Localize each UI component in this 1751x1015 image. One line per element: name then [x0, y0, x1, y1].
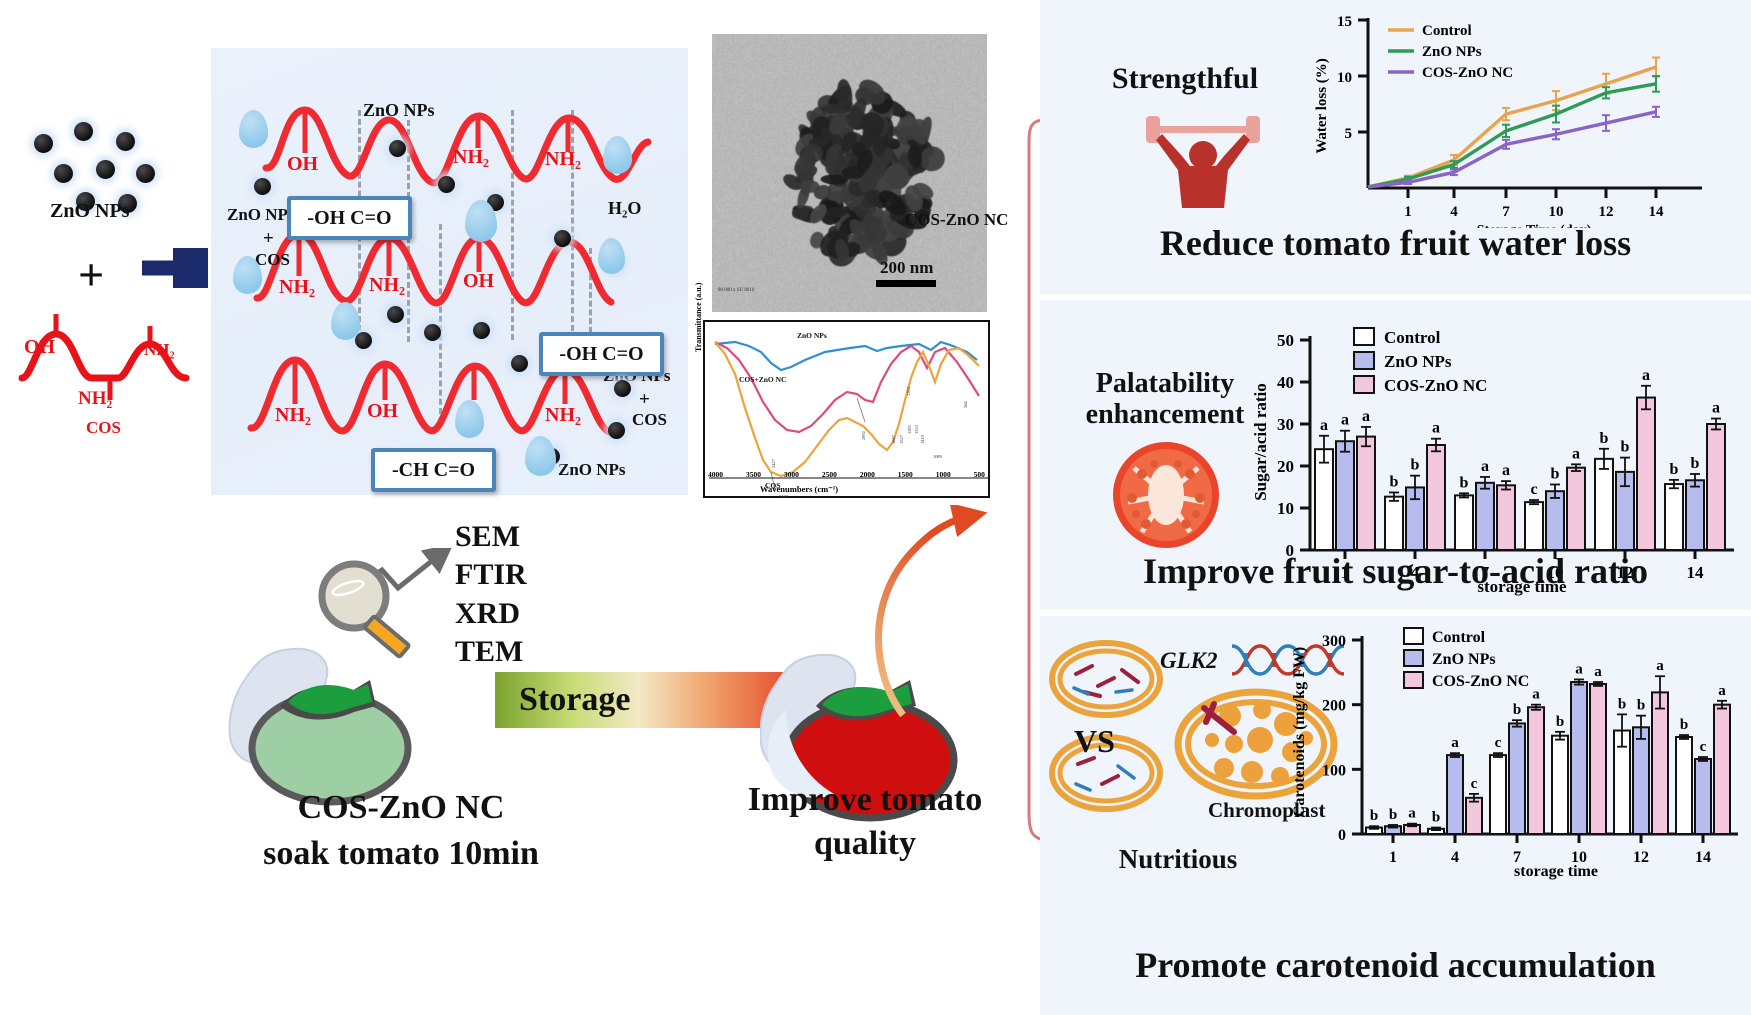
- ftir-peak-3427: 3427: [771, 458, 776, 468]
- wl-line-Control: [1368, 67, 1656, 187]
- ftir-ylabel: Transmittance (a.u.): [694, 283, 703, 352]
- tem-corner-metadata: 80 000 x SU 8010: [718, 288, 754, 294]
- tem-scale-bar: [876, 280, 936, 287]
- ftir-xtick: 1500: [898, 470, 913, 479]
- carotenoid-chart-sig-letter: a: [1594, 664, 1602, 680]
- sugar-acid-chart-ytick: 50: [1277, 331, 1294, 350]
- process-caption-left: COS-ZnO NC soak tomato 10min: [186, 785, 616, 876]
- panel1-caption: Reduce tomato fruit water loss: [1040, 222, 1751, 264]
- carotenoid-chart-bar: [1633, 727, 1649, 834]
- sugar-acid-chart-bar: [1686, 480, 1704, 550]
- wl-legend-control: Control: [1422, 23, 1472, 39]
- curved-arrow-icon: [845, 505, 1005, 725]
- wl-xtick-1: 1: [1404, 204, 1412, 220]
- carotenoid-chart-sig-letter: b: [1618, 696, 1626, 712]
- carotenoid-chart-sig-letter: c: [1471, 776, 1478, 792]
- ftir-peak-1553: 1553: [914, 424, 919, 434]
- sa-legend: Control ZnO NPs COS-ZnO NC: [1354, 328, 1487, 395]
- schematic-zno-cos-left-3: COS: [255, 250, 290, 270]
- carotenoid-chart-bar: [1590, 684, 1606, 834]
- carotenoid-chart-bar: [1509, 723, 1525, 834]
- label-nh2-1: NH₂: [453, 146, 489, 169]
- sugar-acid-chart-bar: [1525, 502, 1543, 550]
- schematic-zno-nps-bottom: ZnO NPs: [558, 460, 626, 480]
- carotenoid-chart-bar: [1571, 682, 1587, 834]
- sugar-acid-chart-sig-letter: b: [1460, 474, 1469, 491]
- wl-xtick-7: 7: [1502, 204, 1510, 220]
- wl-ytick-10: 10: [1337, 70, 1352, 86]
- wl-legend-zno: ZnO NPs: [1422, 44, 1482, 60]
- ftir-peak-564: 564: [963, 401, 968, 408]
- sugar-acid-chart-sig-letter: a: [1712, 400, 1720, 417]
- schematic-zno-nps-top: ZnO NPs: [363, 100, 435, 121]
- ca-legend-cos: COS-ZnO NC: [1432, 673, 1529, 690]
- wl-xtick-14: 14: [1649, 204, 1665, 220]
- wl-legend-cos: COS-ZnO NC: [1422, 65, 1513, 81]
- sugar-acid-chart-bar: [1476, 483, 1494, 550]
- ftir-xtick: 4000: [708, 470, 723, 479]
- sa-legend-zno: ZnO NPs: [1384, 352, 1452, 371]
- carotenoid-chart: 0100200300 Carotenoids (mg/kg FW) bbabac…: [1276, 620, 1748, 882]
- ca-legend: Control ZnO NPs COS-ZnO NC: [1404, 628, 1529, 690]
- sugar-acid-chart-sig-letter: b: [1390, 473, 1399, 490]
- wl-line-ZnO NPs: [1368, 84, 1656, 187]
- interaction-schematic-panel: OH NH₂ NH₂ NH₂ NH₂ OH NH₂ OH NH₂ ZnO NPs…: [211, 48, 688, 495]
- chloroplast-icon: [1046, 634, 1166, 724]
- sugar-acid-chart-bar: [1497, 485, 1515, 550]
- ftir-xtick: 2500: [822, 470, 837, 479]
- sugar-acid-chart-bar: [1385, 497, 1403, 550]
- label-nh2-3: NH₂: [279, 276, 315, 299]
- carotenoid-chart-sig-letter: a: [1451, 735, 1459, 751]
- panel-sugar-acid: Palatability enhancement 01020304050 Sug…: [1040, 300, 1751, 610]
- ftir-peak-1089: 1089: [933, 454, 943, 459]
- panel3-side-label: Nutritious: [1068, 844, 1288, 874]
- tag-box-oh-co-2: -OH C=O: [539, 332, 664, 376]
- carotenoid-chart-bar: [1652, 692, 1668, 834]
- carotenoid-chart-sig-letter: a: [1575, 661, 1583, 677]
- sugar-acid-chart-sig-letter: b: [1670, 461, 1679, 478]
- wl-xtick-4: 4: [1450, 204, 1458, 220]
- ftir-series-label-cos-zno: COS+ZnO NC: [739, 375, 786, 384]
- caption-left-line2: soak tomato 10min: [186, 831, 616, 877]
- schematic-zno-cos-right-3: COS: [632, 410, 667, 430]
- label-nh2-2: NH₂: [545, 148, 581, 171]
- sugar-acid-chart-sig-letter: b: [1411, 457, 1420, 474]
- sugar-acid-chart-sig-letter: c: [1530, 481, 1537, 498]
- carotenoid-chart-xtick: 14: [1695, 849, 1711, 866]
- cos-name-label: COS: [86, 418, 121, 438]
- sugar-acid-chart-sig-letter: a: [1642, 367, 1650, 384]
- carotenoid-chart-ytick: 0: [1338, 827, 1346, 844]
- sugar-acid-chart-sig-letter: b: [1621, 439, 1630, 456]
- schematic-zno-cos-left-2: +: [263, 228, 274, 250]
- ftir-xtick-row: 4000 3500 3000 2500 2000 1500 1000 500: [704, 470, 989, 479]
- sa-legend-control: Control: [1384, 328, 1441, 347]
- panel1-side-label: Strengthful: [1060, 62, 1310, 96]
- carotenoid-chart-bar: [1490, 755, 1506, 834]
- sugar-acid-chart-sig-letter: a: [1362, 408, 1370, 425]
- wl-ytick-5: 5: [1345, 126, 1353, 142]
- carotenoid-chart-xtick: 1: [1389, 849, 1397, 866]
- carotenoid-chart-sig-letter: c: [1700, 739, 1707, 755]
- tomato-slice-icon: [1108, 440, 1228, 552]
- carotenoid-chart-sig-letter: a: [1718, 683, 1726, 699]
- water-loss-chart: 15 10 5 1 4 7 10 12 14 Water loss (%) St…: [1302, 6, 1722, 228]
- sugar-acid-chart-sig-letter: a: [1341, 412, 1349, 429]
- carotenoid-chart-bar: [1466, 798, 1482, 834]
- sugar-acid-chart-bar: [1665, 484, 1683, 550]
- wl-ytick-15: 15: [1337, 14, 1352, 30]
- wl-xtick-10: 10: [1549, 204, 1564, 220]
- sugar-acid-chart-ytick: 40: [1277, 373, 1294, 392]
- plus-icon: +: [78, 248, 104, 301]
- label-oh-1: OH: [287, 153, 318, 176]
- carotenoid-chart-sig-letter: b: [1370, 808, 1378, 824]
- storage-badge: Storage: [495, 672, 795, 728]
- carotenoid-chart-sig-letter: c: [1495, 735, 1502, 751]
- sugar-acid-chart-ytick: 20: [1277, 457, 1294, 476]
- ftir-peak-1527: 1527: [899, 434, 904, 444]
- carotenoid-chart-bar: [1695, 759, 1711, 834]
- tem-scale-text: 200 nm: [880, 258, 933, 278]
- carotenoid-chart-sig-letter: b: [1556, 714, 1564, 730]
- cos-nh2-label: NH₂: [144, 340, 175, 360]
- carotenoid-chart-bar: [1447, 755, 1463, 834]
- carotenoid-chart-sig-letter: a: [1656, 658, 1664, 674]
- schematic-h2o: H₂O: [608, 198, 641, 219]
- schematic-zno-cos-left-1: ZnO NPs: [227, 205, 295, 225]
- schematic-zno-cos-right-2: +: [639, 389, 650, 411]
- ftir-peak-1647: 1647: [891, 434, 896, 444]
- label-nh2-5: NH₂: [275, 404, 311, 427]
- sugar-acid-chart-ytick: 30: [1277, 415, 1294, 434]
- panel-carotenoid: VS GLK2 Chromoplast Nutritious 010: [1040, 616, 1751, 1015]
- ftir-xtick: 3500: [746, 470, 761, 479]
- ftir-peak-1419: 1419: [920, 434, 925, 444]
- carotenoid-chart-ytick: 200: [1322, 698, 1346, 715]
- label-oh-3: OH: [367, 400, 398, 423]
- sugar-acid-chart-bar: [1336, 441, 1354, 550]
- caption-mid-line1: Improve tomato: [700, 778, 1030, 822]
- ftir-xtick: 1000: [936, 470, 951, 479]
- ftir-peak-1585: 1585: [907, 424, 912, 434]
- sugar-acid-chart-sig-letter: a: [1432, 420, 1440, 437]
- ftir-plot-area: [715, 342, 979, 490]
- sugar-acid-chart-sig-letter: a: [1320, 417, 1328, 434]
- carotenoid-chart-bar: [1552, 736, 1568, 834]
- carotenoid-chart-xtick: 4: [1451, 849, 1459, 866]
- carotenoid-chart-sig-letter: b: [1432, 810, 1440, 826]
- sa-legend-cos: COS-ZnO NC: [1384, 376, 1487, 395]
- blue-arrow-icon: [140, 248, 208, 288]
- tag-box-oh-co-1: -OH C=O: [287, 196, 412, 240]
- ca-xlabel: storage time: [1514, 863, 1598, 880]
- wl-ylabel: Water loss (%): [1314, 58, 1330, 154]
- sugar-acid-chart-sig-letter: a: [1481, 458, 1489, 475]
- tem-sample-label: COS-ZnO NC: [905, 210, 1008, 230]
- ftir-peak-1384: 1384: [906, 386, 911, 396]
- sugar-acid-chart-bar: [1315, 449, 1333, 550]
- carotenoid-chart-ytick: 100: [1322, 762, 1346, 779]
- cos-molecule-icon: [18, 300, 208, 420]
- caption-left-line1: COS-ZnO NC: [186, 785, 616, 831]
- ftir-series-label-zno: ZnO NPs: [797, 331, 827, 340]
- ca-legend-control: Control: [1432, 629, 1486, 646]
- storage-label: Storage: [519, 681, 630, 719]
- sugar-acid-chart-bar: [1546, 491, 1564, 550]
- ca-legend-zno: ZnO NPs: [1432, 651, 1496, 668]
- process-caption-mid: Improve tomato quality: [700, 778, 1030, 866]
- caption-mid-line2: quality: [700, 822, 1030, 866]
- carotenoid-chart-bar: [1714, 705, 1730, 834]
- carotenoid-chart-bar: [1676, 737, 1692, 834]
- wl-xtick-12: 12: [1599, 204, 1614, 220]
- label-nh2-6: NH₂: [545, 404, 581, 427]
- sugar-acid-chart-sig-letter: a: [1572, 445, 1580, 462]
- carotenoid-chart-sig-letter: b: [1637, 698, 1645, 714]
- cos-nh2-stem-label: NH₂: [78, 388, 112, 410]
- sugar-acid-chart-sig-letter: b: [1691, 455, 1700, 472]
- cos-oh-label: OH: [24, 336, 55, 359]
- carotenoid-chart-ytick: 300: [1322, 633, 1346, 650]
- sugar-acid-chart-sig-letter: a: [1502, 462, 1510, 479]
- carotenoid-chart-sig-letter: b: [1389, 807, 1397, 823]
- panel3-caption: Promote carotenoid accumulation: [1040, 944, 1751, 986]
- vs-label: VS: [1074, 724, 1115, 760]
- carotenoid-chart-xtick: 12: [1633, 849, 1649, 866]
- glk2-gene-label: GLK2: [1160, 648, 1218, 674]
- sugar-acid-chart-bar: [1595, 459, 1613, 550]
- sugar-acid-chart-ytick: 10: [1277, 499, 1294, 518]
- sugar-acid-chart-bar: [1455, 495, 1473, 550]
- ftir-xtick: 3000: [784, 470, 799, 479]
- label-nh2-4: NH₂: [369, 274, 405, 297]
- carotenoid-chart-sig-letter: b: [1513, 702, 1521, 718]
- ftir-xtick: 500: [974, 470, 985, 479]
- sugar-acid-chart-bar: [1427, 445, 1445, 550]
- weightlifter-icon: [1138, 108, 1268, 218]
- zno-nps-label: ZnO NPs: [50, 200, 129, 223]
- ca-ylabel: Carotenoids (mg/kg FW): [1291, 647, 1308, 817]
- wl-legend: Control ZnO NPs COS-ZnO NC: [1388, 23, 1513, 81]
- carotenoid-chart-bar: [1528, 707, 1544, 834]
- panel2-caption: Improve fruit sugar-to-acid ratio: [1040, 550, 1751, 592]
- sugar-acid-chart-bar: [1637, 398, 1655, 550]
- ftir-xtick: 2000: [860, 470, 875, 479]
- sugar-acid-chart-sig-letter: b: [1600, 430, 1609, 447]
- carotenoid-chart-sig-letter: b: [1680, 717, 1688, 733]
- carotenoid-chart-sig-letter: a: [1408, 806, 1416, 822]
- tem-micrograph: [712, 34, 987, 312]
- ftir-peak-2892: 2892: [861, 431, 866, 440]
- label-oh-2: OH: [463, 270, 494, 293]
- tag-box-ch-co: -CH C=O: [371, 448, 496, 492]
- panel-water-loss: Strengthful 15 10 5 1 4 7 10 12 14 Water…: [1040, 0, 1751, 294]
- sugar-acid-chart-sig-letter: b: [1551, 465, 1560, 482]
- sa-ylabel: Sugar/acid ratio: [1251, 383, 1270, 501]
- sugar-acid-chart-bar: [1567, 468, 1585, 550]
- ftir-xlabel: Wavenumbers (cm⁻¹): [760, 484, 838, 495]
- sugar-acid-chart-bar: [1707, 424, 1725, 550]
- sugar-acid-chart-bar: [1357, 437, 1375, 550]
- carotenoid-chart-sig-letter: a: [1532, 687, 1540, 703]
